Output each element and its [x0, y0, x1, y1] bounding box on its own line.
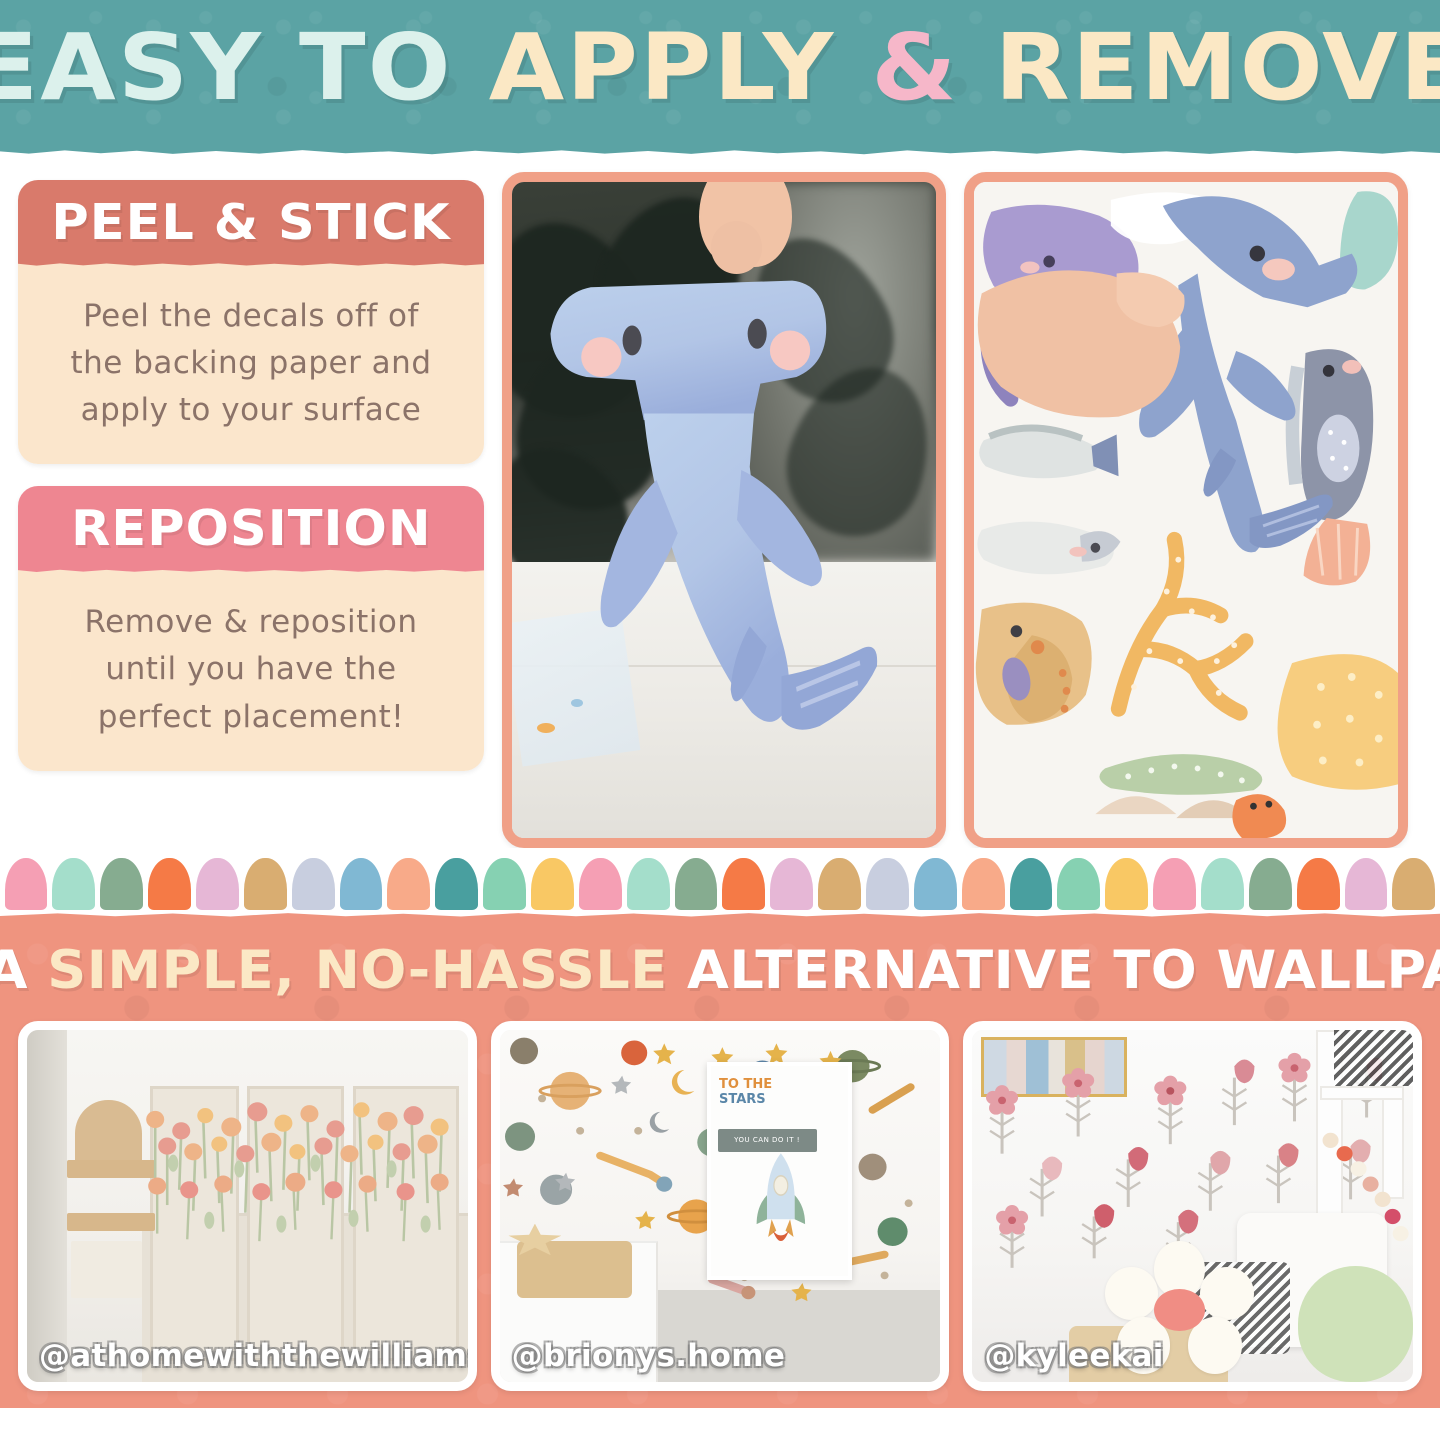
frog-plush	[1298, 1266, 1413, 1382]
scallop-19	[914, 858, 957, 910]
scallop-9	[435, 858, 478, 910]
card-body-reposition: Remove & reposition until you have the p…	[18, 573, 484, 770]
poster-title-line1: TO THE	[719, 1077, 772, 1092]
scallop-4	[196, 858, 239, 910]
torn-paper-edge	[0, 144, 1440, 158]
scallop-25	[1201, 858, 1244, 910]
shark-decal-graphic	[542, 254, 881, 753]
header-banner: EASY TO APPLY & REMOVE	[0, 0, 1440, 158]
scallop-22	[1057, 858, 1100, 910]
scallop-0	[5, 858, 48, 910]
card-body-text: Peel the decals off of the backing paper…	[52, 293, 450, 434]
title-part-easy-to: EASY TO	[0, 14, 489, 121]
photo-peel-decal-scene	[512, 182, 936, 838]
scallop-3	[148, 858, 191, 910]
scallop-24	[1153, 858, 1196, 910]
scallop-8	[387, 858, 430, 910]
room-photo-space-theme: TO THE STARS YOU CAN DO IT !	[491, 1021, 950, 1391]
card-header-reposition: REPOSITION	[18, 486, 484, 573]
photo-reposition-decal	[964, 172, 1408, 848]
scallop-20	[962, 858, 1005, 910]
room-photo-floral-nursery-scene	[27, 1030, 468, 1382]
scallop-1	[52, 858, 95, 910]
scallop-16	[770, 858, 813, 910]
top-section: PEEL & STICK Peel the decals off of the …	[0, 158, 1440, 848]
scallop-17	[818, 858, 861, 910]
scallop-divider	[0, 848, 1440, 910]
instruction-cards: PEEL & STICK Peel the decals off of the …	[18, 172, 484, 848]
framed-poster: TO THE STARS YOU CAN DO IT !	[707, 1062, 852, 1280]
bottom-title-part-alternative: ALTERNATIVE TO WALLPAPER	[687, 940, 1440, 1001]
scallop-14	[675, 858, 718, 910]
scallop-7	[340, 858, 383, 910]
room-photo-pink-flowers: @kyleekai	[963, 1021, 1422, 1391]
card-heading-label: REPOSITION	[71, 500, 431, 557]
poster-ribbon: YOU CAN DO IT !	[718, 1129, 817, 1152]
scallop-6	[292, 858, 335, 910]
photo-peel-decal	[502, 172, 946, 848]
scallop-27	[1297, 858, 1340, 910]
title-part-remove: REMOVE	[995, 14, 1440, 121]
scallop-18	[866, 858, 909, 910]
bottom-title-part-a: A	[0, 940, 47, 1001]
customer-photo-gallery: @athomewiththewilliams	[0, 1001, 1440, 1391]
title-part-ampersand: &	[871, 14, 994, 121]
room-photo-space-theme-scene: TO THE STARS YOU CAN DO IT !	[500, 1030, 941, 1382]
scallop-11	[531, 858, 574, 910]
card-heading-label: PEEL & STICK	[51, 194, 450, 251]
scallop-29	[1392, 858, 1435, 910]
bottom-title: A SIMPLE, NO-HASSLE ALTERNATIVE TO WALLP…	[0, 910, 1440, 1001]
scallop-21	[1010, 858, 1053, 910]
poster-title-line2: STARS	[719, 1092, 766, 1107]
scallop-26	[1249, 858, 1292, 910]
scallop-10	[483, 858, 526, 910]
info-card-peel-and-stick: PEEL & STICK Peel the decals off of the …	[18, 180, 484, 464]
room-photo-floral-nursery: @athomewiththewilliams	[18, 1021, 477, 1391]
scallop-5	[244, 858, 287, 910]
card-header-peel-and-stick: PEEL & STICK	[18, 180, 484, 267]
photo-handle-caption: @athomewiththewilliams	[39, 1338, 477, 1374]
poster-title: TO THE STARS	[719, 1078, 801, 1108]
scallop-23	[1105, 858, 1148, 910]
bottom-section: A SIMPLE, NO-HASSLE ALTERNATIVE TO WALLP…	[0, 910, 1440, 1408]
scallop-12	[579, 858, 622, 910]
title-part-apply: APPLY	[489, 14, 872, 121]
scallop-15	[722, 858, 765, 910]
photo-handle-caption: @kyleekai	[984, 1338, 1163, 1374]
bottom-title-part-simple: SIMPLE, NO-HASSLE	[47, 940, 687, 1001]
rocket-illustration	[752, 1150, 810, 1247]
photo-reposition-decal-scene	[974, 182, 1398, 838]
page-title: EASY TO APPLY & REMOVE	[0, 22, 1440, 114]
infographic-page: EASY TO APPLY & REMOVE PEEL & STICK Peel…	[0, 0, 1440, 1441]
scallop-28	[1345, 858, 1388, 910]
card-body-peel-and-stick: Peel the decals off of the backing paper…	[18, 267, 484, 464]
info-card-reposition: REPOSITION Remove & reposition until you…	[18, 486, 484, 770]
room-photo-pink-flowers-scene	[972, 1030, 1413, 1382]
scallop-13	[627, 858, 670, 910]
scallop-2	[100, 858, 143, 910]
photo-handle-caption: @brionys.home	[512, 1338, 786, 1374]
card-body-text: Remove & reposition until you have the p…	[52, 599, 450, 740]
